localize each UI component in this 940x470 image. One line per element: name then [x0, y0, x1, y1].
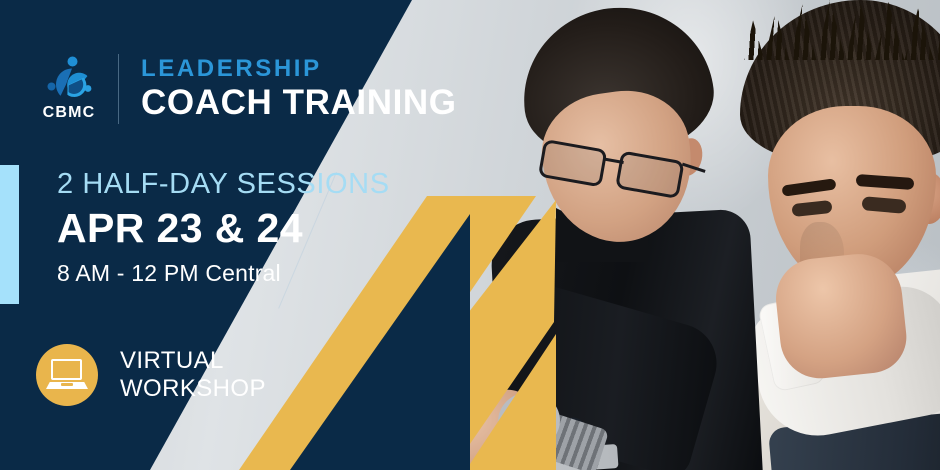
cbmc-wordmark: CBMC	[43, 104, 96, 122]
event-details: 2 HALF-DAY SESSIONS APR 23 & 24 8 AM - 1…	[57, 168, 390, 287]
virtual-workshop-badge: VIRTUAL WORKSHOP	[36, 344, 266, 406]
photo-man-white-shirt-fist	[772, 250, 910, 383]
badge-label-line-2: WORKSHOP	[120, 375, 266, 403]
laptop-icon	[47, 359, 87, 391]
header-kicker: LEADERSHIP	[141, 56, 457, 81]
cbmc-swoosh-icon	[45, 56, 93, 100]
left-accent-bar	[0, 165, 19, 304]
header-titles: LEADERSHIP COACH TRAINING	[141, 56, 457, 122]
laptop-screen	[51, 359, 82, 380]
badge-label: VIRTUAL WORKSHOP	[120, 347, 266, 404]
glasses-lens-left	[538, 139, 608, 188]
cbmc-logo: CBMC	[36, 56, 102, 122]
badge-label-line-1: VIRTUAL	[120, 347, 266, 375]
laptop-trackpad-notch	[61, 383, 73, 386]
event-sessions: 2 HALF-DAY SESSIONS	[57, 168, 390, 200]
badge-circle	[36, 344, 98, 406]
header-title: COACH TRAINING	[141, 84, 457, 122]
event-time: 8 AM - 12 PM Central	[57, 260, 390, 287]
glasses-temple	[682, 163, 706, 173]
event-dates: APR 23 & 24	[57, 204, 390, 252]
promo-banner: CBMC LEADERSHIP COACH TRAINING 2 HALF-DA…	[0, 0, 940, 470]
header: CBMC LEADERSHIP COACH TRAINING	[36, 54, 457, 124]
header-divider	[118, 54, 119, 124]
